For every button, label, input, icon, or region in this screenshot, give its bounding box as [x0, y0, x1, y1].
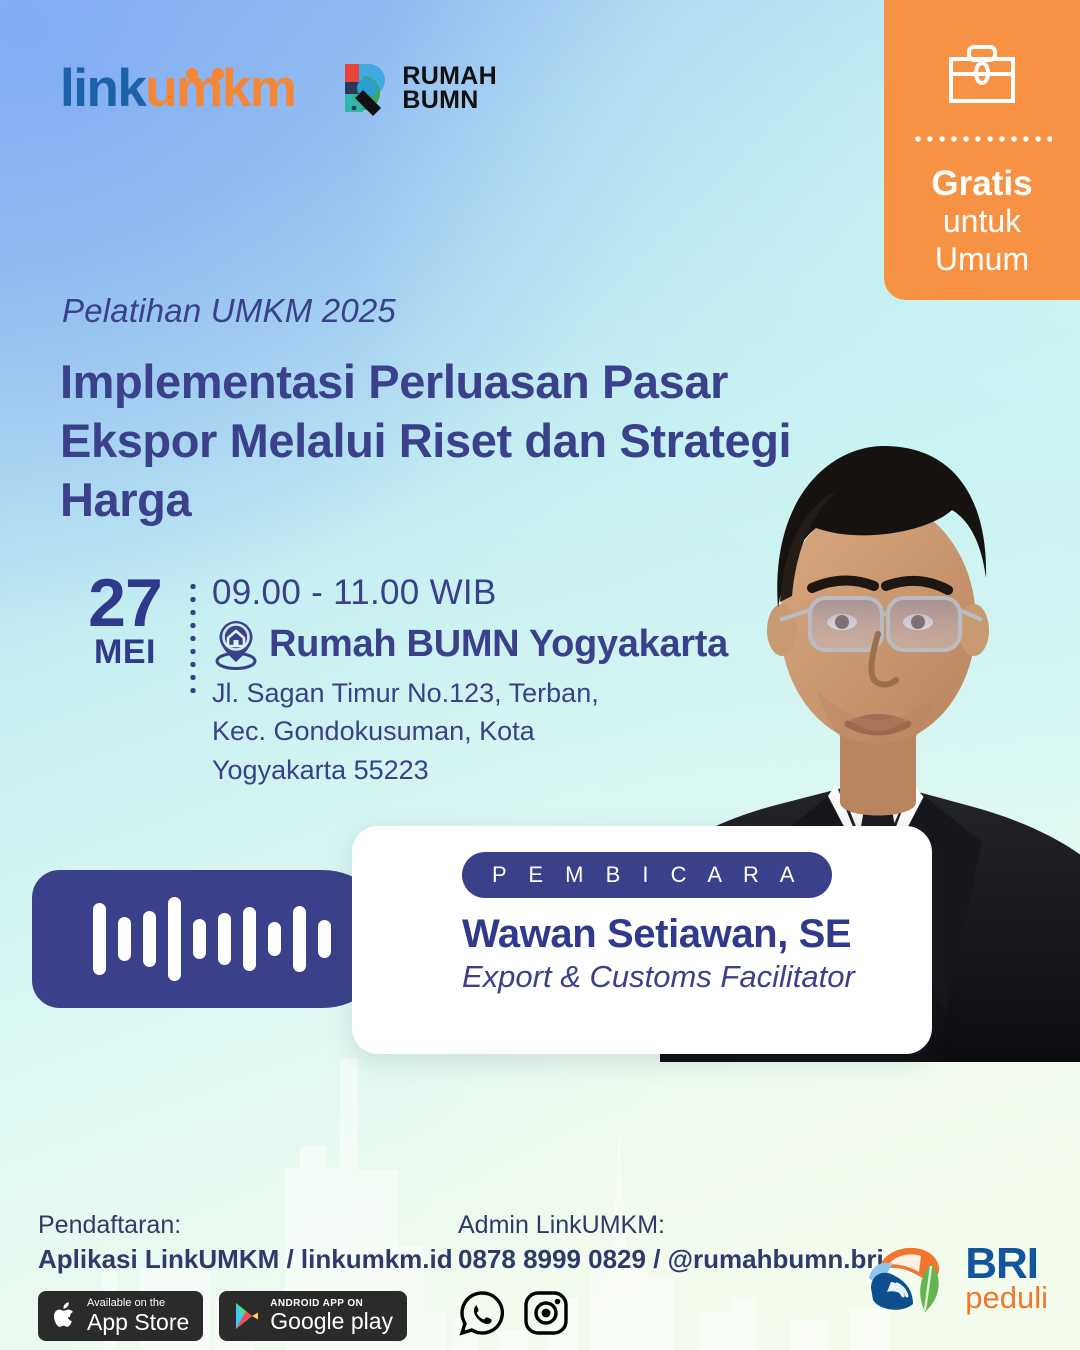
registration-value: Aplikasi LinkUMKM / linkumkm.id	[38, 1243, 453, 1277]
event-date-venue: 27 MEI 09.00 - 11.00 WIB Rumah BUMN Yogy…	[60, 572, 728, 789]
wave-bar	[318, 920, 331, 958]
venue-block: 09.00 - 11.00 WIB Rumah BUMN Yogyakarta …	[212, 572, 728, 789]
admin-value: 0878 8999 0829 / @rumahbumn.bri	[458, 1243, 884, 1277]
date-venue-dotted-separator	[190, 580, 196, 698]
whatsapp-icon[interactable]	[458, 1289, 506, 1337]
google-play-big: Google play	[270, 1309, 393, 1333]
wave-bar	[218, 913, 231, 965]
google-play-icon	[233, 1300, 261, 1332]
event-address-line1: Jl. Sagan Timur No.123, Terban,	[212, 674, 728, 712]
wave-bar	[118, 917, 131, 961]
event-address-line3: Yogyakarta 55223	[212, 751, 728, 789]
poster-canvas: linkumkm RUMAH BUMN	[0, 0, 1080, 1350]
peduli-wordmark: peduli	[965, 1284, 1048, 1313]
apple-icon	[52, 1300, 78, 1332]
linkumkm-logo-link: link	[60, 59, 145, 118]
app-store-small: Available on the	[87, 1298, 189, 1310]
wave-bar	[268, 922, 281, 956]
location-pin-house-icon	[212, 618, 260, 670]
badge-sub1: untuk	[943, 203, 1021, 241]
briefcase-icon	[945, 42, 1019, 106]
badge-title: Gratis	[931, 164, 1032, 203]
bri-wordmark: BRI	[965, 1244, 1048, 1284]
app-store-badge[interactable]: Available on the App Store	[38, 1291, 203, 1341]
linkumkm-logo: linkumkm	[60, 62, 295, 115]
gratis-badge: Gratis untuk Umum	[884, 0, 1080, 300]
registration-block: Pendaftaran: Aplikasi LinkUMKM / linkumk…	[38, 1210, 453, 1341]
event-address-line2: Kec. Gondokusuman, Kota	[212, 712, 728, 750]
speaker-card: P E M B I C A R A Wawan Setiawan, SE Exp…	[352, 826, 932, 1054]
badge-dotted-divider	[912, 136, 1052, 142]
rumah-bumn-logo: RUMAH BUMN	[339, 58, 497, 118]
header-logos: linkumkm RUMAH BUMN	[60, 58, 497, 118]
wave-bar	[193, 919, 206, 959]
bri-peduli-logo: BRI peduli	[861, 1234, 1048, 1322]
wave-bar	[168, 897, 181, 981]
rumah-bumn-line2: BUMN	[402, 88, 497, 112]
event-day: 27	[60, 572, 190, 635]
event-time: 09.00 - 11.00 WIB	[212, 572, 728, 614]
admin-label: Admin LinkUMKM:	[458, 1210, 884, 1241]
audio-wave-pill	[32, 870, 392, 1008]
google-play-badge[interactable]: ANDROID APP ON Google play	[219, 1291, 407, 1341]
app-store-big: App Store	[87, 1310, 189, 1334]
linkumkm-dot-right	[212, 68, 224, 80]
wave-bar	[143, 911, 156, 967]
event-month: MEI	[60, 635, 190, 671]
linkumkm-dot-left	[186, 68, 198, 80]
event-title: Implementasi Perluasan Pasar Ekspor Mela…	[60, 352, 800, 530]
badge-sub2: Umum	[935, 241, 1029, 279]
speaker-name: Wawan Setiawan, SE	[462, 912, 932, 957]
speaker-tag: P E M B I C A R A	[462, 852, 832, 898]
linkumkm-logo-umkm: umkm	[145, 59, 295, 118]
bri-peduli-hands-leaf-icon	[861, 1234, 953, 1322]
admin-contact-block: Admin LinkUMKM: 0878 8999 0829 / @rumahb…	[458, 1210, 884, 1337]
event-date: 27 MEI	[60, 572, 190, 670]
rumah-bumn-line1: RUMAH	[402, 64, 497, 88]
wave-bar	[93, 903, 106, 975]
instagram-icon[interactable]	[522, 1289, 570, 1337]
event-venue: Rumah BUMN Yogyakarta	[269, 623, 728, 666]
wave-bar	[243, 907, 256, 971]
rumah-bumn-mark-icon	[339, 58, 391, 118]
registration-label: Pendaftaran:	[38, 1210, 453, 1241]
speaker-role: Export & Customs Facilitator	[462, 959, 932, 995]
wave-bar	[293, 906, 306, 972]
event-kicker: Pelatihan UMKM 2025	[62, 292, 396, 330]
